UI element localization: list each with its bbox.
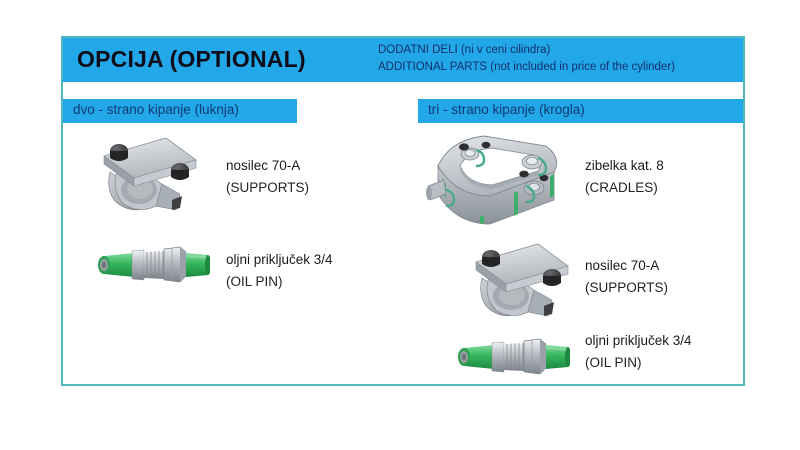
oil-pin-icon	[88, 240, 210, 292]
title-note: DODATNI DELI (ni v ceni cilindra) ADDITI…	[378, 42, 738, 76]
item-label-support-left: nosilec 70-A (SUPPORTS)	[226, 155, 309, 199]
item-label-oilpin-left: oljni priključek 3/4 (OIL PIN)	[226, 249, 333, 293]
item-name-sl: oljni priključek 3/4	[585, 330, 692, 352]
page-title: OPCIJA (OPTIONAL)	[77, 46, 306, 73]
item-name-sl: nosilec 70-A	[226, 155, 309, 177]
support-bracket-icon	[456, 240, 584, 324]
item-name-sl: nosilec 70-A	[585, 255, 668, 277]
item-label-support-right: nosilec 70-A (SUPPORTS)	[585, 255, 668, 299]
subheader-left: dvo - strano kipanje (luknja)	[63, 99, 297, 123]
title-band: OPCIJA (OPTIONAL) DODATNI DELI (ni v cen…	[63, 38, 743, 82]
item-name-en: (OIL PIN)	[585, 352, 692, 374]
support-bracket-icon	[84, 134, 212, 218]
item-name-sl: zibelka kat. 8	[585, 155, 664, 177]
item-label-oilpin-right: oljni priključek 3/4 (OIL PIN)	[585, 330, 692, 374]
item-name-en: (SUPPORTS)	[585, 277, 668, 299]
item-name-en: (SUPPORTS)	[226, 177, 309, 199]
screenshot-canvas: OPCIJA (OPTIONAL) DODATNI DELI (ni v cen…	[0, 0, 800, 450]
subheader-right: tri - strano kipanje (krogla)	[418, 99, 743, 123]
item-name-en: (CRADLES)	[585, 177, 664, 199]
subheader-right-label: tri - strano kipanje (krogla)	[428, 102, 585, 117]
cradle-collar-icon	[426, 128, 572, 232]
note-line-en: ADDITIONAL PARTS (not included in price …	[378, 59, 738, 76]
item-name-sl: oljni priključek 3/4	[226, 249, 333, 271]
note-line-sl: DODATNI DELI (ni v ceni cilindra)	[378, 42, 738, 59]
subheader-left-label: dvo - strano kipanje (luknja)	[73, 102, 239, 117]
item-label-cradle: zibelka kat. 8 (CRADLES)	[585, 155, 664, 199]
oil-pin-icon	[448, 332, 570, 384]
item-name-en: (OIL PIN)	[226, 271, 333, 293]
